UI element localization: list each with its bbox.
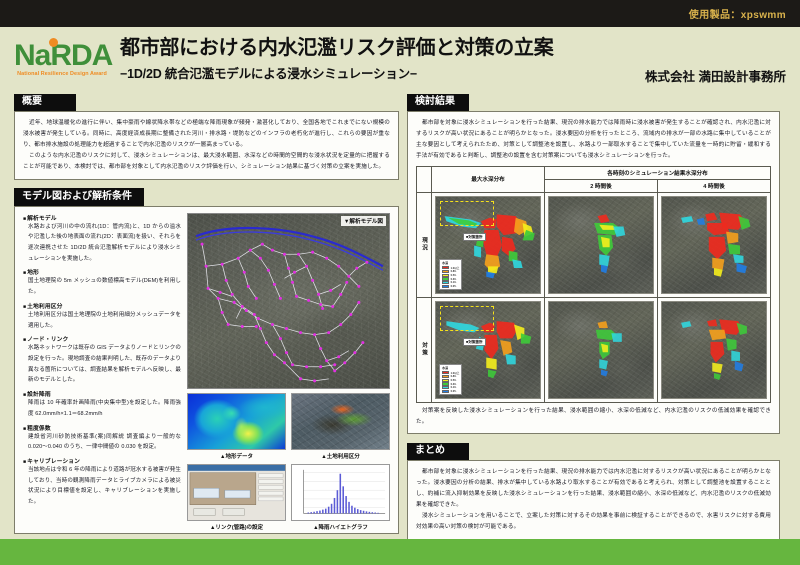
- bullet-title: 地形: [23, 267, 181, 276]
- legend-swatch-icon: [442, 371, 449, 374]
- depth-legend: 水深 1.0以上 0.80-: [439, 364, 462, 394]
- top-bar: 使用製品：xpswmm: [0, 0, 800, 27]
- model-heading-row: モデル図および解析条件: [14, 186, 399, 206]
- bullet-body: 当該地点は令和 6 年の降雨により道路が冠水する被害が発生しており、当時の観測降…: [23, 465, 181, 508]
- bullet-body: 水路および河川の中の流れ(1D：管内流)と、1D からの溢水や氾濫した後の地表面…: [23, 222, 181, 265]
- logo-subtitle: National Resilience Design Award: [14, 72, 110, 77]
- summary-paragraph: 都市部を対象に浸水シミュレーションを行った結果、現況の排水能力では内水氾濫に対す…: [416, 467, 771, 511]
- legend-entry: 0.05-: [442, 285, 459, 288]
- legend-value: 0.50-: [451, 274, 457, 277]
- company-name: 株式会社 満田設計事務所: [637, 66, 786, 91]
- cell-measure-t2: [545, 297, 658, 402]
- bullet-title: 土地利用区分: [23, 301, 181, 310]
- figure-link-dialog: ▲リンク(管路)の設定: [187, 464, 286, 531]
- model-panel: 解析モデル 水路および河川の中の流れ(1D：管内流)と、1D からの溢水や氾濫し…: [14, 206, 399, 534]
- legend-swatch-icon: [442, 266, 449, 269]
- flood-map-current-max: ■対策箇所 水深 1.0以上 0.80-: [435, 196, 541, 294]
- overview-paragraph: このような内水氾濫のリスクに対して、浸水シミュレーションは、最大浸水範囲、水深な…: [23, 151, 390, 173]
- content-columns: 概要 近年、地球温暖化の進行に伴い、集中豪雨や線状降水帯などの極端な降雨現象が頻…: [0, 91, 800, 540]
- legend-swatch-icon: [442, 390, 449, 393]
- rainfall-hyetograph-chart: [291, 464, 390, 521]
- row-label-header: [417, 166, 432, 192]
- col-max-depth-header: 最大水深分布: [432, 166, 545, 192]
- figure-hyetograph: ▲降雨ハイエトグラフ: [291, 464, 390, 531]
- area-tag-label: ■対策箇所: [463, 338, 486, 346]
- cell-measure-t4: [658, 297, 771, 402]
- col-t2-header: 2 時間後: [545, 179, 658, 192]
- bullet-body: 建設省河川砂防技術基準(案)同解説 調査編より一般的な 0.020〜0.040 …: [23, 432, 181, 453]
- logo-mark: NaRDA: [14, 41, 112, 71]
- results-heading: 検討結果: [407, 94, 469, 112]
- model-heading: モデル図および解析条件: [14, 188, 144, 206]
- list-item: キャリブレーション 当該地点は令和 6 年の降雨により道路が冠水する被害が発生し…: [23, 456, 181, 508]
- overview-text: 近年、地球温暖化の進行に伴い、集中豪雨や線状降水帯などの極端な降雨現象が頻発・激…: [23, 118, 390, 173]
- overview-paragraph: 近年、地球温暖化の進行に伴い、集中豪雨や線状降水帯などの極端な降雨現象が頻発・激…: [23, 118, 390, 151]
- poster-page: 使用製品：xpswmm NaRDA National Resilience De…: [0, 0, 800, 565]
- overview-panel: 近年、地球温暖化の進行に伴い、集中豪雨や線状降水帯などの極端な降雨現象が頻発・激…: [14, 111, 399, 180]
- col-timestep-group-header: 各時刻のシミュレーション結果水深分布: [545, 166, 771, 179]
- target-area-dash-box: [440, 201, 494, 226]
- pipe-network-overlay: [188, 214, 389, 389]
- bullet-title: キャリブレーション: [23, 456, 181, 465]
- depth-legend: 水深 1.0以上 0.80-: [439, 259, 462, 289]
- cell-measure-max: ■対策箇所 水深 1.0以上 0.80-: [432, 297, 545, 402]
- small-figure-row-2: ▲リンク(管路)の設定: [187, 464, 390, 531]
- bullet-title: 解析モデル: [23, 213, 181, 222]
- analysis-model-caption: ▼解析モデル図: [341, 216, 386, 226]
- results-conclusion: 対策案を反映した浸水シミュレーションを行った結果、浸水範囲の縮小、水深の低減など…: [416, 406, 771, 428]
- figure-caption: ▲地形データ: [187, 452, 286, 460]
- bullet-title: 設計降雨: [23, 389, 181, 398]
- table-row: 現況: [417, 192, 771, 297]
- list-item: ノード・リンク 水路ネットワークは既存の GIS データよりノードとリンクの設定…: [23, 334, 181, 386]
- legend-value: 0.05-: [451, 390, 457, 393]
- page-subtitle: −1D/2D 統合氾濫モデルによる浸水シミュレーション−: [120, 63, 637, 82]
- legend-entry: 0.05-: [442, 390, 459, 393]
- bullet-title: ノード・リンク: [23, 334, 181, 343]
- bullet-title: 粗度係数: [23, 423, 181, 432]
- flood-map-measure-t4: [661, 301, 767, 399]
- figure-caption: ▲リンク(管路)の設定: [187, 523, 286, 531]
- analysis-model-figure: ▼解析モデル図: [187, 213, 390, 389]
- overview-heading-row: 概要: [14, 91, 399, 111]
- legend-title: 水深: [442, 261, 459, 265]
- flood-extent-overlay: [662, 197, 766, 282]
- title-block: 都市部における内水氾濫リスク評価と対策の立案 −1D/2D 統合氾濫モデルによる…: [110, 37, 637, 82]
- bullet-body: 国土地理院の 5m メッシュの数値標高モデル(DEM)を利用した。: [23, 276, 181, 297]
- table-header-row-1: 最大水深分布 各時刻のシミュレーション結果水深分布: [417, 166, 771, 179]
- table-row: 対策: [417, 297, 771, 402]
- area-tag-label: ■対策箇所: [463, 233, 486, 241]
- hyetograph-plot: [292, 465, 389, 520]
- results-conclusion-paragraph: 対策案を反映した浸水シミュレーションを行った結果、浸水範囲の縮小、水深の低減など…: [416, 406, 771, 428]
- list-item: 土地利用区分 土地利用区分は国土地理院の土地利用細分メッシュデータを適用した。: [23, 301, 181, 331]
- figure-terrain: ▲地形データ: [187, 393, 286, 460]
- list-item: 解析モデル 水路および河川の中の流れ(1D：管内流)と、1D からの溢水や氾濫し…: [23, 213, 181, 265]
- results-intro: 都市部を対象に浸水シミュレーションを行った結果、現況の排水能力では降雨時に浸水被…: [416, 118, 771, 162]
- dialog-mock: [188, 465, 285, 520]
- cell-current-t4: [658, 192, 771, 297]
- results-intro-paragraph: 都市部を対象に浸水シミュレーションを行った結果、現況の排水能力では降雨時に浸水被…: [416, 118, 771, 162]
- bullet-body: 降雨は 10 年確率計画降雨(中央集中型)を設定した。降雨強度 62.0mm/h…: [23, 398, 181, 419]
- summary-heading: まとめ: [407, 443, 469, 461]
- figure-landuse: ▲土地利用区分: [291, 393, 390, 460]
- flood-extent-overlay: [549, 197, 653, 282]
- narda-logo: NaRDA National Resilience Design Award: [14, 41, 110, 77]
- col-t4-header: 4 時間後: [658, 179, 771, 192]
- flood-map-measure-max: ■対策箇所 水深 1.0以上 0.80-: [435, 301, 541, 399]
- small-figure-row-1: ▲地形データ ▲土地利用区分: [187, 393, 390, 460]
- legend-value: 0.80-: [451, 375, 457, 378]
- summary-heading-row: まとめ: [407, 440, 780, 460]
- list-item: 設計降雨 降雨は 10 年確率計画降雨(中央集中型)を設定した。降雨強度 62.…: [23, 389, 181, 419]
- legend-value: 0.80-: [451, 270, 457, 273]
- flood-extent-overlay: [662, 302, 766, 387]
- logo-roof-dot-icon: [49, 38, 58, 47]
- legend-value: 0.10-: [451, 281, 457, 284]
- row-label-current: 現況: [417, 192, 432, 297]
- terrain-dem-image: [187, 393, 286, 450]
- bullet-body: 水路ネットワークは既存の GIS データよりノードとリンクの設定を行った。現地調…: [23, 343, 181, 386]
- flood-map-current-t4: [661, 196, 767, 294]
- results-heading-row: 検討結果: [407, 91, 780, 111]
- legend-title: 水深: [442, 366, 459, 370]
- list-item: 地形 国土地理院の 5m メッシュの数値標高モデル(DEM)を利用した。: [23, 267, 181, 297]
- model-body: 解析モデル 水路および河川の中の流れ(1D：管内流)と、1D からの溢水や氾濫し…: [23, 213, 390, 531]
- cell-current-max: ■対策箇所 水深 1.0以上 0.80-: [432, 192, 545, 297]
- logo-mark-text: NaRDA: [14, 39, 112, 72]
- legend-swatch-icon: [442, 285, 449, 288]
- product-label: 使用製品：xpswmm: [689, 6, 786, 21]
- flood-map-current-t2: [548, 196, 654, 294]
- bottom-green-bar: [0, 539, 800, 565]
- legend-value: 0.05-: [451, 285, 457, 288]
- legend-value: 0.10-: [451, 386, 457, 389]
- figure-caption: ▲土地利用区分: [291, 452, 390, 460]
- figure-caption: ▲降雨ハイエトグラフ: [291, 523, 390, 531]
- model-conditions-list: 解析モデル 水路および河川の中の流れ(1D：管内流)と、1D からの溢水や氾濫し…: [23, 213, 181, 531]
- legend-value: 0.50-: [451, 379, 457, 382]
- summary-panel: 都市部を対象に浸水シミュレーションを行った結果、現況の排水能力では内水氾濫に対す…: [407, 460, 780, 539]
- right-column: 検討結果 都市部を対象に浸水シミュレーションを行った結果、現況の排水能力では降雨…: [407, 91, 780, 540]
- summary-paragraph: 浸水シミュレーションを用いることで、立案した対策に対するその効果を事前に検証する…: [416, 511, 771, 533]
- results-table: 最大水深分布 各時刻のシミュレーション結果水深分布 2 時間後 4 時間後 現況: [416, 166, 771, 403]
- link-settings-dialog-image: [187, 464, 286, 521]
- left-column: 概要 近年、地球温暖化の進行に伴い、集中豪雨や線状降水帯などの極端な降雨現象が頻…: [14, 91, 399, 540]
- target-area-dash-box: [440, 306, 494, 331]
- bullet-body: 土地利用区分は国土地理院の土地利用細分メッシュデータを適用した。: [23, 310, 181, 331]
- results-panel: 都市部を対象に浸水シミュレーションを行った結果、現況の排水能力では降雨時に浸水被…: [407, 111, 780, 434]
- poster-header: NaRDA National Resilience Design Award 都…: [0, 27, 800, 91]
- row-label-measure: 対策: [417, 297, 432, 402]
- landuse-image: [291, 393, 390, 450]
- aerial-photo-map: [187, 213, 390, 389]
- flood-extent-overlay: [549, 302, 653, 387]
- list-item: 粗度係数 建設省河川砂防技術基準(案)同解説 調査編より一般的な 0.020〜0…: [23, 423, 181, 453]
- page-title: 都市部における内水氾濫リスク評価と対策の立案: [120, 37, 637, 60]
- flood-map-measure-t2: [548, 301, 654, 399]
- model-figures: ▼解析モデル図: [187, 213, 390, 531]
- cell-current-t2: [545, 192, 658, 297]
- overview-heading: 概要: [14, 94, 76, 112]
- summary-text: 都市部を対象に浸水シミュレーションを行った結果、現況の排水能力では内水氾濫に対す…: [416, 467, 771, 532]
